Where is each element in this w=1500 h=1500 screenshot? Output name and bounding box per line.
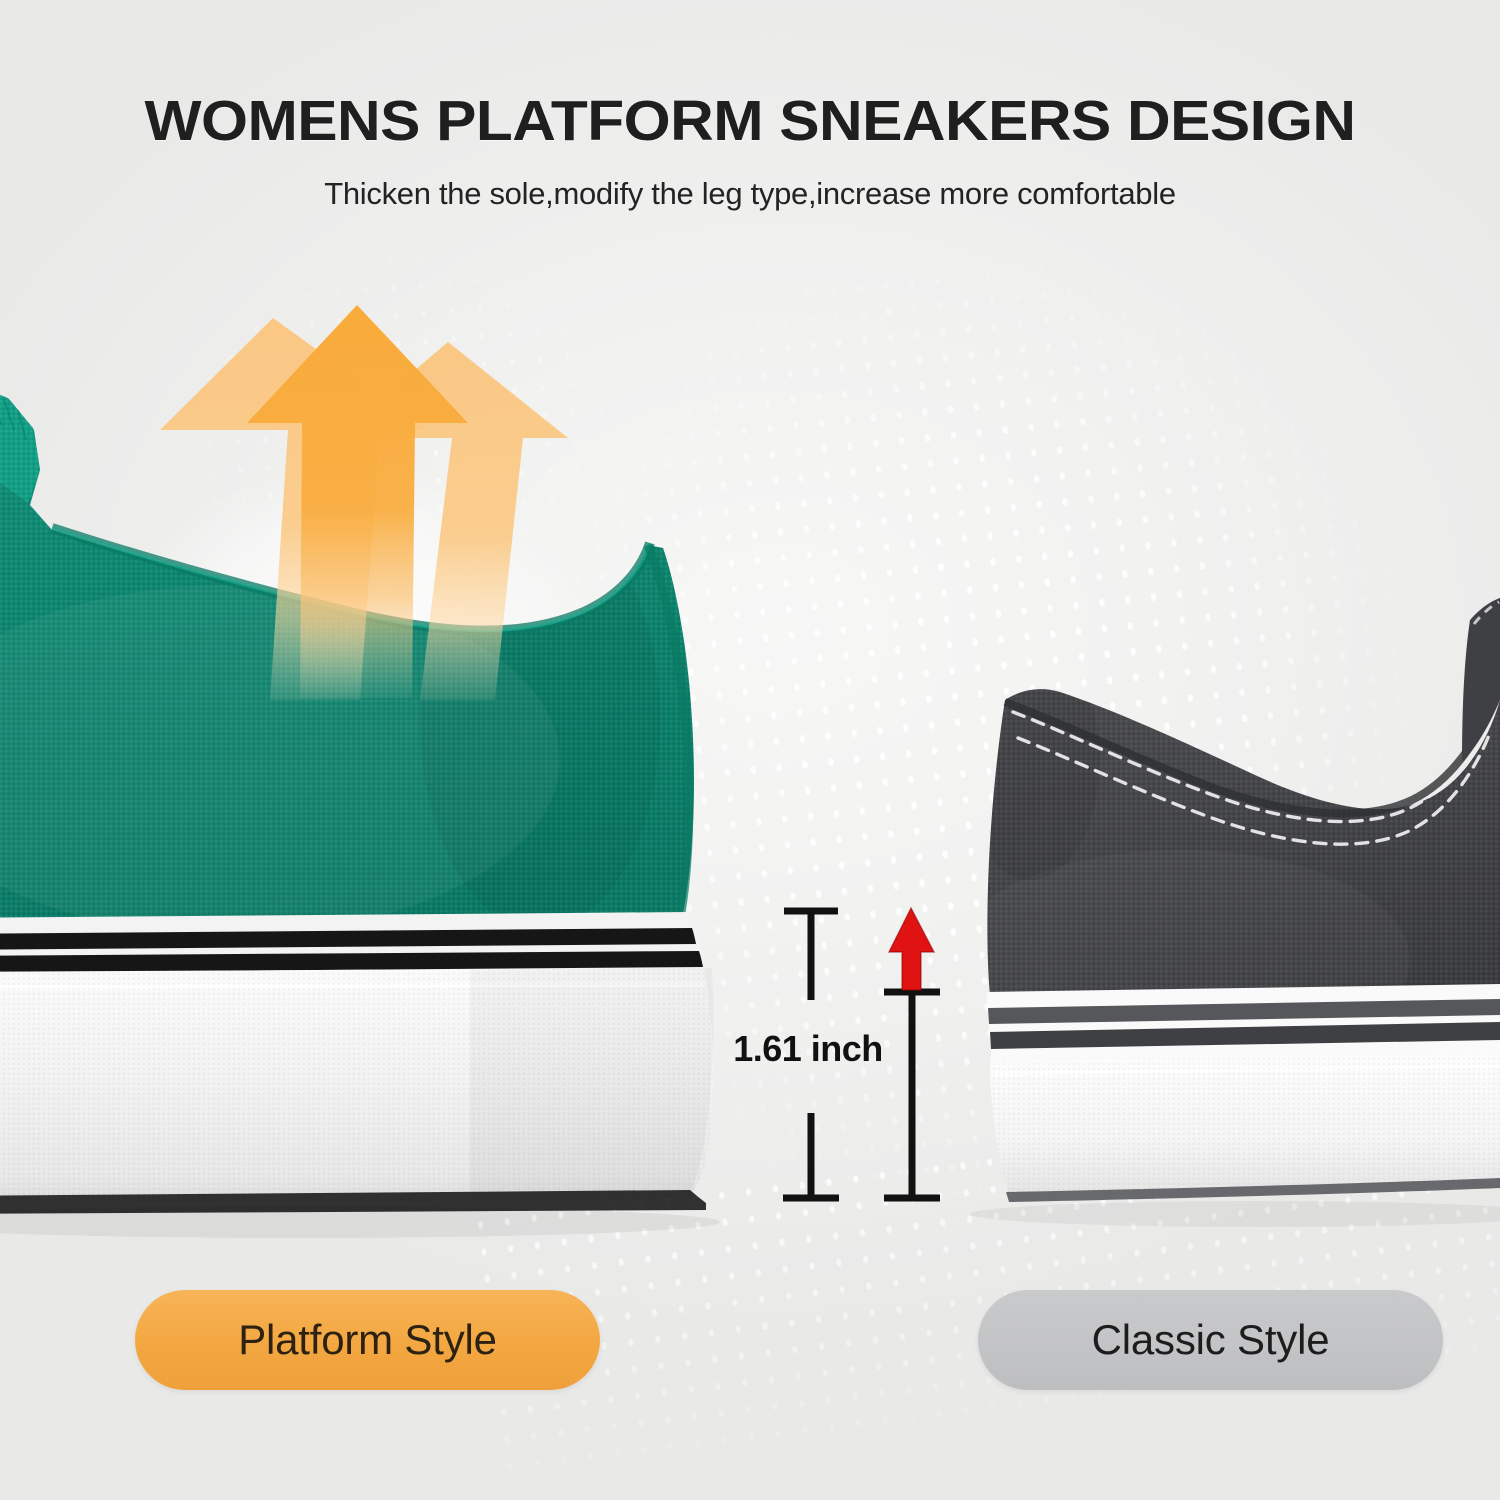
dimension-value-label: 1.61 inch [728,1028,888,1070]
platform-style-label: Platform Style [238,1316,497,1364]
dimension-line-right [884,992,940,1198]
green-platform-sole [0,968,714,1214]
classic-style-label: Classic Style [1092,1316,1330,1364]
up-arrow-icon-red [889,908,934,990]
grey-sole [990,1054,1500,1202]
grey-midsole-stripes [986,984,1500,1062]
classic-style-pill[interactable]: Classic Style [978,1290,1443,1390]
infographic-canvas: WOMENS PLATFORM SNEAKERS DESIGN Thicken … [0,0,1500,1500]
shoe-comparison-illustration: 1.61 inch [0,0,1500,1500]
green-collar-ruffle [0,386,40,503]
platform-style-pill[interactable]: Platform Style [135,1290,600,1390]
green-midsole-stripes [0,912,704,973]
grey-classic-sneaker [950,598,1500,1227]
